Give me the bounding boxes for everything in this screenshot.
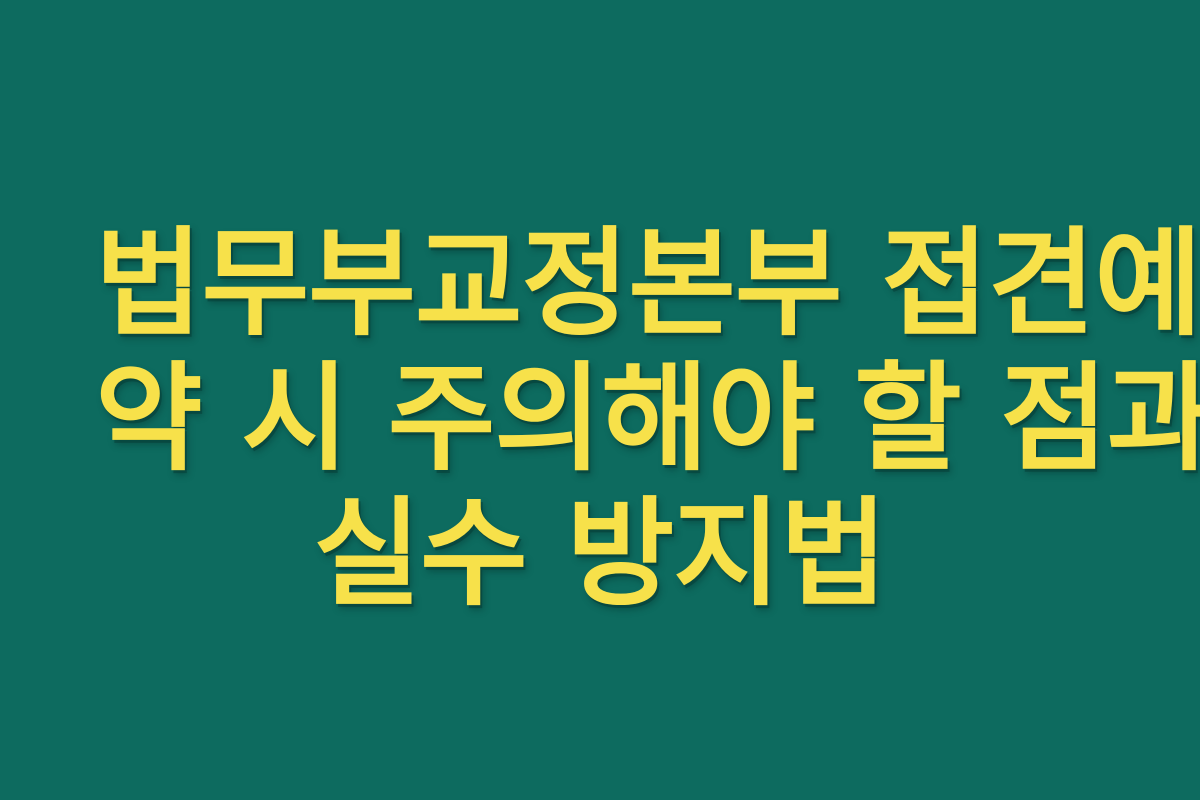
- poster-canvas: 법무부교정본부 접견예 약 시 주의해야 할 점과 실수 방지법: [0, 0, 1200, 800]
- page-title: 법무부교정본부 접견예 약 시 주의해야 할 점과 실수 방지법: [95, 216, 1105, 621]
- title-line-2: 약 시 주의해야 할 점과: [95, 351, 1105, 486]
- title-line-1: 법무부교정본부 접견예: [95, 216, 1105, 351]
- title-line-3: 실수 방지법: [95, 486, 1105, 621]
